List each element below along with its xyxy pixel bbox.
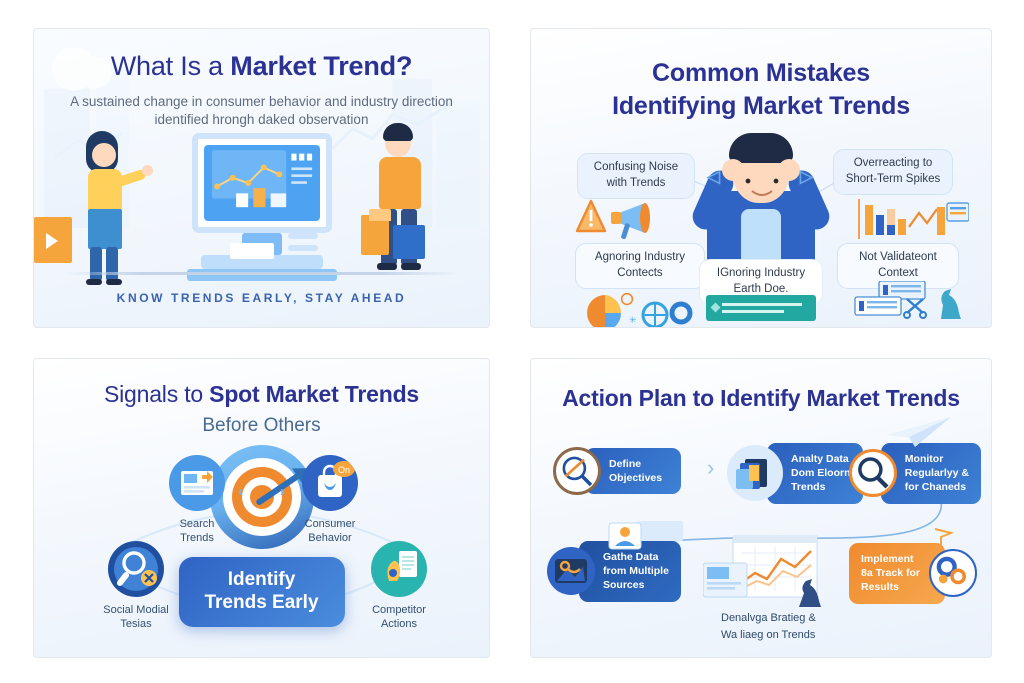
label-line1: Search <box>180 518 215 530</box>
svg-text:On: On <box>338 465 350 475</box>
detail-bar <box>288 245 318 251</box>
panel-1-title: What Is a Market Trend? <box>34 51 489 82</box>
panel-4-caption: Denalvga Bratieg & Wa liaeg on Trends <box>721 610 816 643</box>
frustrated-person-illustration <box>696 125 826 265</box>
panel-1-subtitle: A sustained change in consumer behavior … <box>34 93 489 129</box>
label-line1: Social Modial <box>103 604 168 616</box>
tag-line2: 8a Track for <box>861 566 921 580</box>
label-line2: Behavior <box>308 532 351 544</box>
social-media-search-icon <box>108 541 164 597</box>
bubble-overreacting-spikes[interactable]: Overreacting to Short-Term Spikes <box>833 149 953 195</box>
connector-chevron-left-icon: ‹ <box>238 483 243 500</box>
panel-3-content: Signals to Spot Market Trends Before Oth… <box>34 359 489 657</box>
analyze-data-icon <box>727 445 783 501</box>
define-objectives-icon <box>553 447 601 495</box>
pill-line2: Trends Early <box>204 592 318 615</box>
chart-screen <box>204 145 320 221</box>
monitor-magnifier-icon <box>849 449 897 497</box>
bubble-confusing-noise-text: Confusing Noise with Trends <box>586 160 686 191</box>
documents-scissors-chess-icons <box>849 281 969 323</box>
implement-gears-icon <box>929 549 977 597</box>
monitor-platform <box>187 269 337 281</box>
node-social-media-signals[interactable]: Social Modial Tesias <box>90 541 182 632</box>
panel-1-title-light: What Is a <box>111 51 231 81</box>
trend-scene-illustration <box>34 129 489 281</box>
label-line2: Trends <box>180 532 214 544</box>
label-line2: Tesias <box>120 618 151 630</box>
bubble-ignoring-industry-contects[interactable]: Agnoring Industry Contects <box>575 243 705 289</box>
step-monitor-regularly[interactable]: Monitor Regularlyy & for Chaneds <box>849 443 981 504</box>
tag-line2: Regularlyy & <box>905 466 969 480</box>
shopping-bag-icon <box>34 217 72 263</box>
panel-1-content: What Is a Market Trend? A sustained chan… <box>34 29 489 327</box>
bubble-ignoring-industry-contects-text: Agnoring Industry Contects <box>584 250 696 281</box>
label-line2: Actions <box>381 618 417 630</box>
panel-1-tagline: KNOW TRENDS EARLY, STAY AHEAD <box>34 291 489 305</box>
panel-what-is-a-market-trend[interactable]: What Is a Market Trend? A sustained chan… <box>33 28 490 328</box>
chevron-left-icon: ◁ <box>707 167 720 187</box>
competitor-actions-label: Competitor Actions <box>353 603 445 632</box>
pie-and-gear-icons: ✳ <box>583 293 713 328</box>
node-search-trends[interactable]: Search Trends <box>158 455 236 546</box>
panel-action-plan[interactable]: Action Plan to Identify Market Trends De… <box>530 358 992 658</box>
identify-trends-early-pill[interactable]: Identify Trends Early <box>178 557 344 627</box>
tag-line1: Define <box>609 457 669 471</box>
step-implement-track[interactable]: Implement 8a Track for Results <box>849 543 977 604</box>
panel-common-mistakes[interactable]: Common Mistakes Identifying Market Trend… <box>530 28 992 328</box>
caret-right-icon-1: › <box>707 455 714 481</box>
tag-line3: for Chaneds <box>905 480 969 494</box>
user-card-icon <box>607 519 687 551</box>
tag-line1: Analty Data <box>791 452 851 466</box>
person-woman <box>72 121 142 281</box>
panel-4-content: Action Plan to Identify Market Trends De… <box>531 359 991 657</box>
tag-line2: from Multiple <box>603 564 669 578</box>
competitor-actions-icon <box>371 541 427 597</box>
line-chart-graphic <box>204 145 320 221</box>
face-features <box>736 173 788 201</box>
panel-2-content: Common Mistakes Identifying Market Trend… <box>531 29 991 327</box>
warning-and-megaphone-icons <box>575 197 671 241</box>
social-media-label: Social Modial Tesias <box>90 603 182 632</box>
dashboard-illustration <box>703 535 833 620</box>
bubble-not-validating-context-text: Not Validateont Context <box>846 250 950 281</box>
pill-line1: Identify <box>204 569 318 592</box>
gather-data-icon <box>547 547 595 595</box>
tag-line3: Sources <box>603 578 669 592</box>
tag-line3: Results <box>861 580 921 594</box>
panel-1-header: What Is a Market Trend? A sustained chan… <box>34 51 489 129</box>
tag-line2: Dom Eloorn <box>791 466 851 480</box>
search-trends-icon <box>169 455 225 511</box>
pin-flag-icon <box>933 527 955 545</box>
tag-line1: Monitor <box>905 452 969 466</box>
tag-line1: Implement <box>861 552 921 566</box>
tag-line3: Trends <box>791 480 851 494</box>
label-line1: Consumer <box>305 518 356 530</box>
bubble-confusing-noise[interactable]: Confusing Noise with Trends <box>577 153 695 199</box>
ground-line <box>64 272 459 275</box>
panel-signals-to-spot[interactable]: Signals to Spot Market Trends Before Oth… <box>33 358 490 658</box>
bubble-overreacting-spikes-text: Overreacting to Short-Term Spikes <box>842 156 944 187</box>
chart-icons <box>853 195 969 243</box>
white-card <box>230 243 274 259</box>
package-box-icon <box>361 215 389 255</box>
detail-bar <box>288 233 318 239</box>
step-define-objectives[interactable]: Define Objectives <box>553 447 681 495</box>
package-lid <box>369 209 391 221</box>
paper-plane-icon <box>885 415 955 449</box>
step-analyze-data[interactable]: Analty Data Dom Eloorn Trends <box>727 443 863 504</box>
label-line1: Competitor <box>372 604 426 616</box>
caption-line2: Wa liaeg on Trends <box>721 627 816 644</box>
caption-line1: Denalvga Bratieg & <box>721 610 816 627</box>
teal-document-icon <box>706 291 816 325</box>
infographic-grid: What Is a Market Trend? A sustained chan… <box>0 0 1024 683</box>
panel-1-title-bold: Market Trend? <box>230 51 412 81</box>
tag-line1: Gathe Data <box>603 550 669 564</box>
monitor-icon <box>192 133 332 233</box>
consumer-behavior-icon: On <box>302 455 358 511</box>
node-competitor-actions[interactable]: Competitor Actions <box>353 541 445 632</box>
analytics-dashboard-icon <box>703 535 833 615</box>
tag-line2: Objectives <box>609 471 669 485</box>
connector-chevron-right-icon: › <box>280 483 285 500</box>
svg-text:✳: ✳ <box>629 315 637 325</box>
node-consumer-behavior[interactable]: On Consumer Behavior <box>289 455 371 546</box>
blue-box-icon <box>393 225 425 259</box>
person-hair <box>729 133 793 163</box>
chevron-right-icon: ▷ <box>800 167 813 187</box>
